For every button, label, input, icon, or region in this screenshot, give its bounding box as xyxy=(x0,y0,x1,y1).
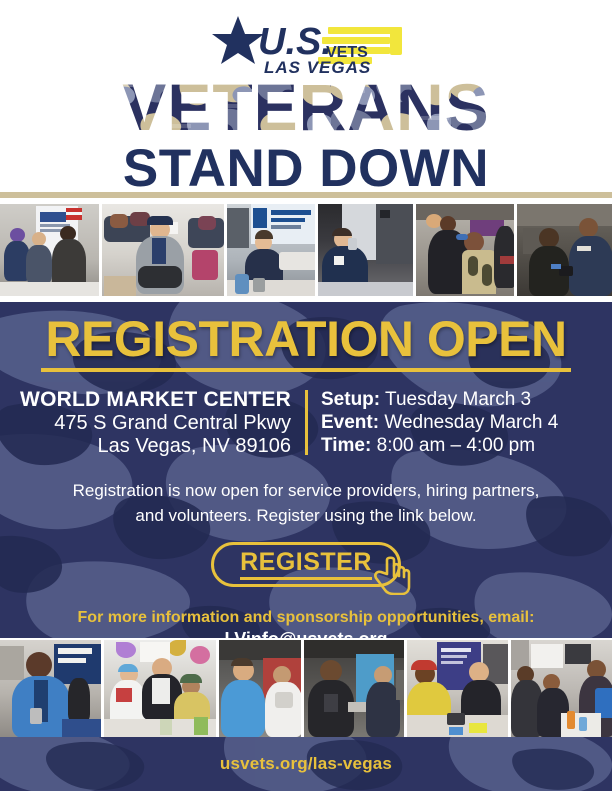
contact-prompt: For more information and sponsorship opp… xyxy=(0,607,612,628)
photo-veteran-beverage xyxy=(318,204,413,296)
schedule-setup-label: Setup: xyxy=(321,389,380,410)
contact-email[interactable]: LVinfo@usvets.org xyxy=(0,628,612,638)
flyer-header: U.S. VETS LAS VEGAS xyxy=(0,0,612,196)
venue-block: WORLD MARKET CENTER 475 S Grand Central … xyxy=(13,388,305,458)
photo-staff-assisting-guest xyxy=(517,204,612,296)
venue-street: 475 S Grand Central Pkwy xyxy=(13,412,291,435)
veterans-camo-svg: VETERANS VETERANS xyxy=(91,74,521,140)
schedule-event: Event: Wednesday March 4 xyxy=(321,411,599,434)
registration-open-headline: REGISTRATION OPEN xyxy=(0,312,612,372)
event-title: VETERANS VETERANS xyxy=(0,74,612,196)
photo-registration-table xyxy=(0,204,99,296)
photo-strip-top xyxy=(0,204,612,296)
photo-mobile-healthcare-clinic xyxy=(227,204,316,296)
registration-open-text: REGISTRATION OPEN xyxy=(41,312,570,372)
stand-down-text: STAND DOWN xyxy=(0,142,612,196)
schedule-setup-value: Tuesday March 3 xyxy=(385,389,531,410)
usvets-logo-svg: U.S. VETS LAS VEGAS xyxy=(200,14,412,76)
schedule-event-value: Wednesday March 4 xyxy=(384,412,558,433)
photo-exhibitor-conversation xyxy=(304,640,405,737)
photo-seated-veteran-clothing xyxy=(102,204,224,296)
register-button-label: REGISTER xyxy=(240,549,372,580)
photo-service-provider-booth xyxy=(407,640,508,737)
main-body: REGISTRATION OPEN WORLD MARKET CENTER 47… xyxy=(0,302,612,638)
photo-resource-line xyxy=(511,640,612,737)
venue-city-state-zip: Las Vegas, NV 89106 xyxy=(13,435,291,458)
photo-food-service-table xyxy=(104,640,216,737)
pointing-hand-cursor-icon xyxy=(367,550,415,595)
flyer-page: U.S. VETS LAS VEGAS xyxy=(0,0,612,791)
star-icon xyxy=(212,16,264,64)
usvets-logo: U.S. VETS LAS VEGAS xyxy=(0,14,612,76)
schedule-time-label: Time: xyxy=(321,435,371,456)
flyer-footer: usvets.org/las-vegas xyxy=(0,737,612,791)
tan-divider-bar xyxy=(0,192,612,198)
registration-blurb: Registration is now open for service pro… xyxy=(71,478,541,528)
schedule-time-value: 8:00 am – 4:00 pm xyxy=(377,435,535,456)
schedule-setup: Setup: Tuesday March 3 xyxy=(321,388,599,411)
main-content-panel: REGISTRATION OPEN WORLD MARKET CENTER 47… xyxy=(0,302,612,638)
venue-name: WORLD MARKET CENTER xyxy=(13,388,291,412)
schedule-event-label: Event: xyxy=(321,412,379,433)
schedule-block: Setup: Tuesday March 3 Event: Wednesday … xyxy=(308,388,599,457)
contact-block: For more information and sponsorship opp… xyxy=(0,607,612,638)
event-details-row: WORLD MARKET CENTER 475 S Grand Central … xyxy=(0,388,612,458)
photo-strip-bottom xyxy=(0,640,612,737)
photo-smiling-volunteer xyxy=(0,640,101,737)
schedule-time: Time: 8:00 am – 4:00 pm xyxy=(321,434,599,457)
register-button-wrap: REGISTER xyxy=(211,542,401,587)
footer-website-url[interactable]: usvets.org/las-vegas xyxy=(0,737,612,791)
veterans-wordmark: VETERANS VETERANS xyxy=(91,74,521,140)
photo-blue-shirt-attendee xyxy=(219,640,300,737)
svg-text:U.S.: U.S. xyxy=(258,21,332,63)
photo-haircut-station xyxy=(416,204,515,296)
